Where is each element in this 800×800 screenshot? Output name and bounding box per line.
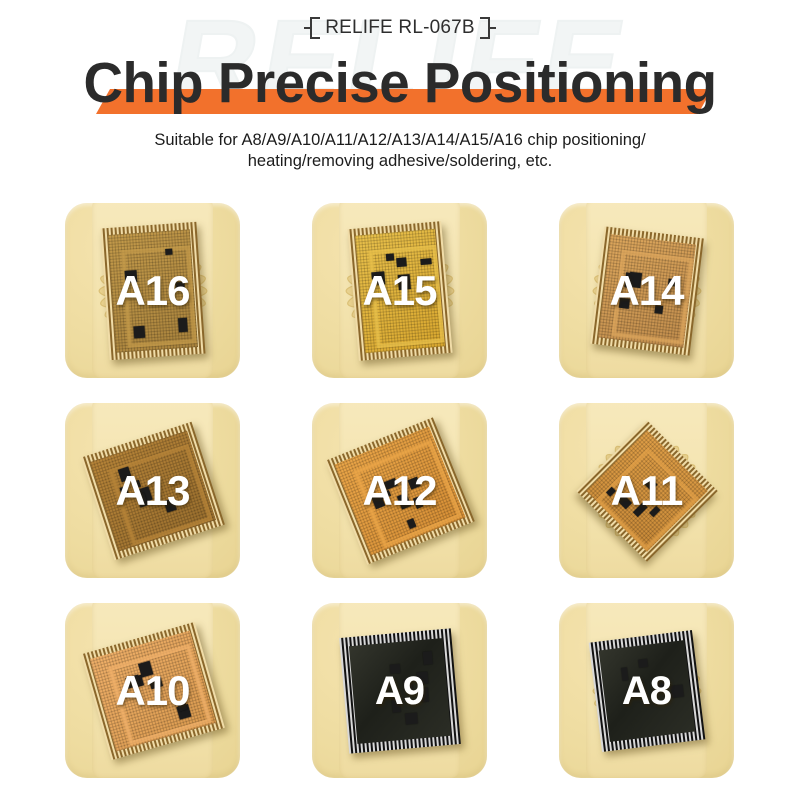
chip-component-pad — [177, 702, 187, 711]
chip-component-pad — [177, 317, 187, 332]
chip-tile-A14[interactable]: RELIFERL-067B POSITIONCHIP RELIFERL-067B… — [559, 203, 734, 378]
chip-component-pad — [397, 274, 410, 290]
chip-image-A8 — [588, 630, 705, 752]
model-badge: RELIFE RL-067B — [305, 14, 495, 42]
chip-image-A15 — [347, 221, 452, 361]
page-header: RELIFE RL-067B Chip Precise Positioning … — [0, 0, 800, 172]
chip-substrate — [348, 638, 450, 744]
chip-component-pad — [165, 248, 172, 254]
chip-component-pad — [653, 679, 666, 692]
chip-image-A16 — [100, 221, 205, 359]
corner-bracket-right-icon — [482, 17, 495, 39]
chip-component-pad — [621, 667, 629, 681]
model-number-text: RELIFE RL-067B — [325, 17, 475, 39]
chip-component-pad — [416, 671, 428, 684]
chip-image-A9 — [339, 628, 461, 753]
chip-substrate — [597, 234, 695, 348]
chip-component-pad — [396, 257, 407, 267]
chip-component-pad — [618, 297, 629, 308]
chip-component-pad — [131, 479, 141, 488]
chip-component-pad — [420, 687, 428, 702]
chip-substrate — [598, 640, 695, 742]
page-title: Chip Precise Positioning — [16, 52, 784, 114]
chip-body — [347, 221, 452, 361]
chip-component-pad — [627, 688, 638, 698]
chip-component-pad — [670, 684, 683, 697]
page-subtitle: Suitable for A8/A9/A10/A11/A12/A13/A14/A… — [0, 130, 800, 172]
chip-tile-A10[interactable]: RELIFERL-067B POSITIONCHIP RELIFERL-067B… — [65, 603, 240, 778]
chip-component-pad — [385, 253, 394, 261]
chip-component-pad — [391, 698, 400, 713]
chip-trace-frame — [121, 245, 197, 348]
chip-substrate — [107, 229, 197, 352]
chip-component-pad — [371, 271, 381, 279]
subtitle-line-2: heating/removing adhesive/soldering, etc… — [0, 151, 800, 172]
chip-component-pad — [654, 305, 663, 314]
chip-body — [590, 226, 704, 355]
chip-tile-A13[interactable]: RELIFERL-067B POSITIONCHIP RELIFERL-067B… — [65, 403, 240, 578]
title-block: Chip Precise Positioning — [0, 52, 800, 114]
chip-component-pad — [638, 658, 648, 667]
corner-bracket-left-icon — [305, 17, 318, 39]
chip-tile-A11[interactable]: RELIFERL-067B POSITIONCHIP RELIFERL-067B… — [559, 403, 734, 578]
chip-body — [100, 221, 205, 359]
chip-tile-A16[interactable]: RELIFERL-067B POSITIONCHIP RELIFERL-067B… — [65, 203, 240, 378]
chip-body — [588, 630, 705, 752]
chip-trace-frame — [611, 249, 693, 344]
chip-component-pad — [133, 325, 145, 338]
chip-component-pad — [422, 651, 432, 665]
chip-component-pad — [175, 281, 184, 289]
chip-tile-A15[interactable]: RELIFERL-067B POSITIONCHIP RELIFERL-067B… — [312, 203, 487, 378]
chip-component-pad — [667, 278, 677, 286]
chip-component-pad — [628, 271, 642, 287]
chip-component-pad — [404, 712, 417, 724]
chip-component-pad — [403, 678, 413, 690]
chip-tile-A9[interactable]: RELIFERL-067B POSITIONCHIP RELIFERL-067B… — [312, 603, 487, 778]
chip-component-pad — [124, 270, 137, 283]
chip-tile-A12[interactable]: RELIFERL-067B POSITIONCHIP RELIFERL-067B… — [312, 403, 487, 578]
chip-body — [339, 628, 461, 753]
chip-tile-grid: RELIFERL-067B POSITIONCHIP RELIFERL-067B… — [65, 203, 735, 778]
subtitle-line-1: Suitable for A8/A9/A10/A11/A12/A13/A14/A… — [0, 130, 800, 151]
chip-tile-A8[interactable]: RELIFERL-067B POSITIONCHIP RELIFERL-067B… — [559, 603, 734, 778]
chip-component-pad — [420, 258, 431, 265]
chip-substrate — [355, 228, 445, 353]
chip-component-pad — [389, 663, 400, 673]
chip-image-A14 — [590, 226, 704, 355]
